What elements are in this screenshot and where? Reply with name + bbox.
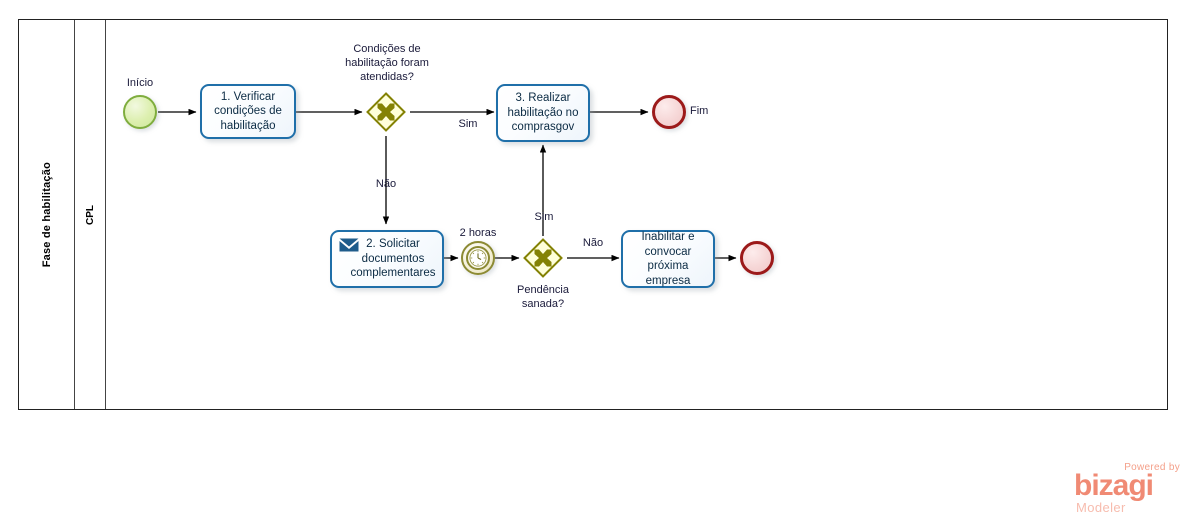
bizagi-watermark: Powered by bizagi Modeler — [1074, 462, 1182, 514]
pool-header[interactable]: Fase de habilitação — [19, 20, 75, 409]
task-1-label: 1. Verificar condições de habilitação — [208, 90, 288, 134]
lane-header-cpl[interactable]: CPL — [75, 20, 106, 409]
flow-label-sim-2: Sim — [524, 211, 564, 223]
gateway-condicoes-atendidas[interactable] — [366, 92, 406, 132]
start-event[interactable] — [123, 95, 157, 129]
flow-label-sim-1: Sim — [440, 118, 496, 130]
lane-body-cpl — [106, 20, 1167, 409]
task-4-label: Inabilitar e convocar próxima empresa — [629, 230, 707, 288]
lane-title-cpl: CPL — [85, 205, 96, 225]
flow-label-nao-2: Não — [570, 237, 616, 249]
watermark-brand: bizagi — [1074, 471, 1153, 501]
end-event-fim-label: Fim — [690, 105, 708, 117]
timer-intermediate-event[interactable] — [461, 241, 495, 275]
start-event-label: Início — [103, 76, 177, 90]
diagram-canvas: Fase de habilitação CPL — [0, 0, 1189, 521]
envelope-icon — [339, 238, 359, 252]
end-event-fim[interactable] — [652, 95, 686, 129]
task-3-label: 3. Realizar habilitação no comprasgov — [504, 91, 582, 135]
pool-title: Fase de habilitação — [41, 162, 53, 267]
gateway-2-label: Pendência sanada? — [507, 283, 579, 311]
watermark-product: Modeler — [1076, 500, 1126, 515]
task-2-label: 2. Solicitar documentos complementares — [350, 237, 436, 281]
timer-inner-circle — [466, 246, 490, 270]
flow-label-nao-1: Não — [362, 178, 410, 190]
gateway-pendencia-sanada[interactable] — [523, 238, 563, 278]
gateway-1-label: Condições de habilitação foram atendidas… — [330, 42, 444, 84]
pool-fase-de-habilitacao[interactable]: Fase de habilitação CPL — [18, 19, 1168, 410]
task-solicitar-documentos[interactable]: 2. Solicitar documentos complementares — [330, 230, 444, 288]
end-event-2[interactable] — [740, 241, 774, 275]
task-verificar-condicoes[interactable]: 1. Verificar condições de habilitação — [200, 84, 296, 139]
task-realizar-habilitacao[interactable]: 3. Realizar habilitação no comprasgov — [496, 84, 590, 142]
timer-event-label: 2 horas — [444, 227, 512, 239]
clock-face-icon — [468, 248, 488, 268]
task-inabilitar-convocar[interactable]: Inabilitar e convocar próxima empresa — [621, 230, 715, 288]
